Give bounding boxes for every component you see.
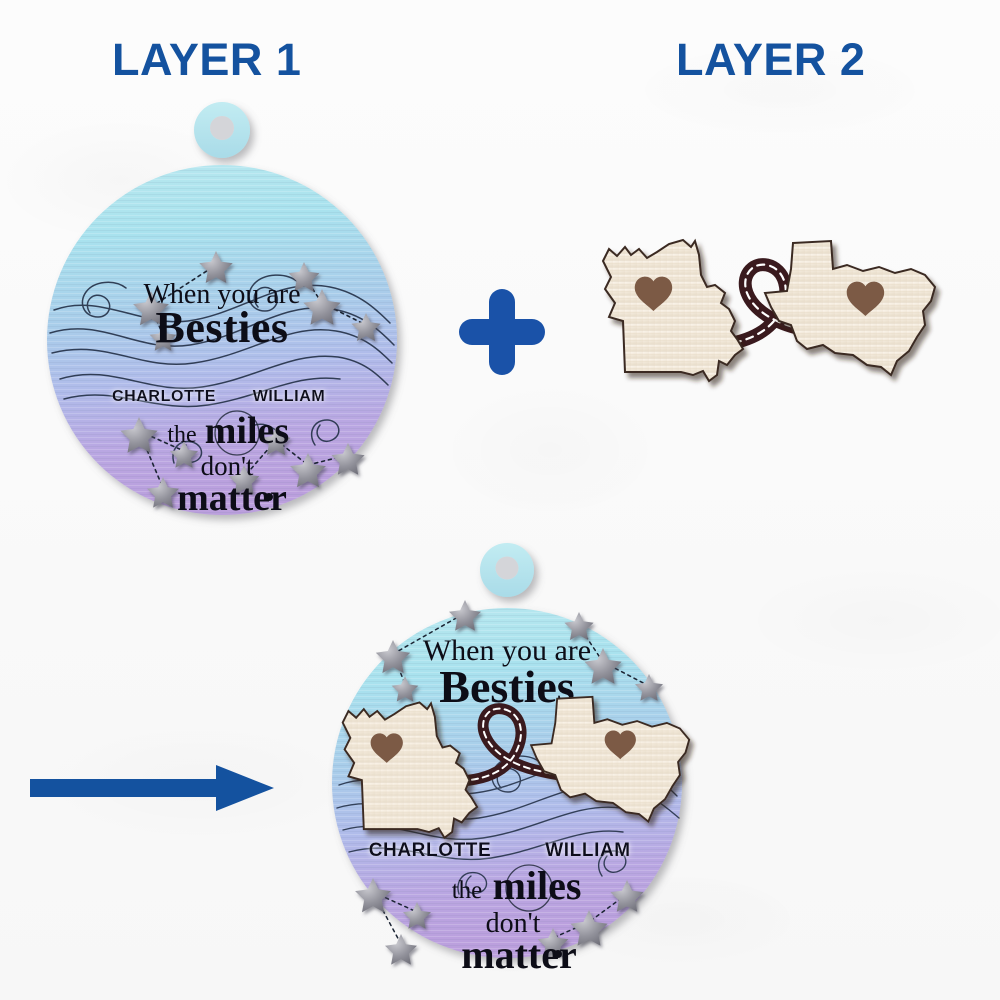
- name-right: WILLIAM: [545, 840, 630, 861]
- arrow-right-icon: [30, 765, 275, 811]
- quote-bottom-the: the: [452, 877, 483, 904]
- state-texas: [765, 241, 935, 375]
- layer2-heading: LAYER 2: [676, 34, 865, 86]
- finished-product-ornament: When you are Besties CHARLOTTE WILLIAM: [295, 540, 725, 990]
- layer1-heading: LAYER 1: [112, 34, 301, 86]
- plus-icon: [455, 285, 549, 379]
- quote-bottom-miles: miles: [493, 863, 582, 908]
- ornament-hanger: [480, 543, 534, 597]
- name-left: CHARLOTTE: [369, 840, 492, 861]
- name-left: CHARLOTTE: [112, 388, 216, 405]
- layer2-wood-states: [595, 225, 945, 405]
- state-missouri: [603, 240, 743, 381]
- star-icon: [385, 934, 417, 965]
- name-right: WILLIAM: [253, 388, 326, 405]
- quote-top-line2: Besties: [155, 303, 288, 352]
- ornament-hanger: [194, 102, 250, 158]
- quote-bottom-the: the: [167, 422, 196, 448]
- quote-bottom-miles: miles: [205, 410, 289, 452]
- layer1-ornament: When you are Besties CHARLOTTE WILLIAM t…: [30, 95, 430, 535]
